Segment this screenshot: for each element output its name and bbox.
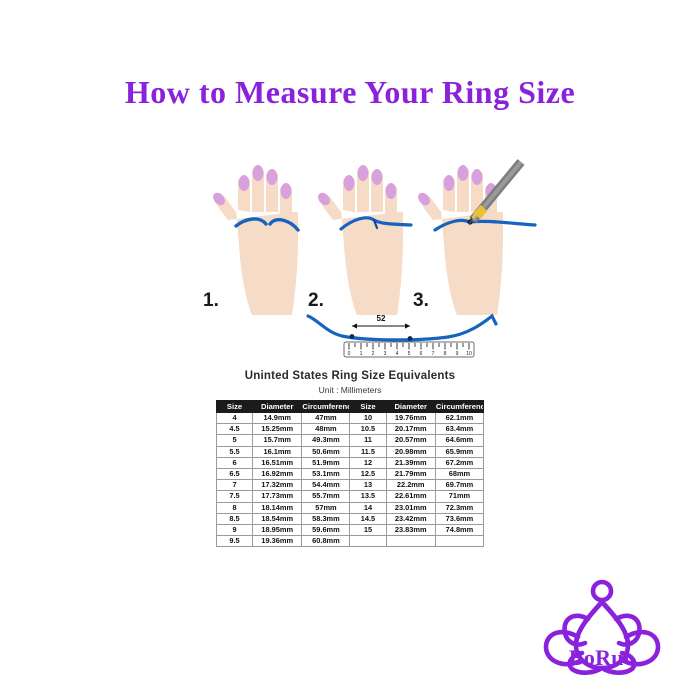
ruler-measurement-diagram: 52 [300, 310, 520, 365]
table-header-cell-2: Circumference [302, 401, 350, 413]
table-cell-1: 17.73mm [253, 491, 302, 502]
table-cell-3: 11 [350, 435, 386, 446]
svg-text:8: 8 [444, 351, 447, 357]
table-cell-4: 20.17mm [386, 424, 435, 435]
svg-text:9: 9 [456, 351, 459, 357]
table-cell-4: 23.42mm [386, 513, 435, 524]
table-cell-5: 72.3mm [435, 502, 483, 513]
table-cell-4: 20.57mm [386, 435, 435, 446]
ruler-svg: 52 [300, 310, 520, 365]
table-cell-2: 51.9mm [302, 457, 350, 468]
table-cell-2: 60.8mm [302, 536, 350, 547]
table-cell-5: 67.2mm [435, 457, 483, 468]
table-cell-4: 22.2mm [386, 480, 435, 491]
measure-value-label: 52 [377, 314, 386, 323]
table-cell-5 [435, 536, 483, 547]
svg-text:5: 5 [408, 351, 411, 357]
step-number-1: 1. [203, 290, 219, 312]
table-cell-2: 48mm [302, 424, 350, 435]
table-cell-0: 5 [217, 435, 253, 446]
nail-icon [372, 169, 383, 185]
nail-icon [458, 165, 469, 181]
table-cell-1: 17.32mm [253, 480, 302, 491]
brand-name: BoRuo [532, 645, 672, 671]
ring-size-table: SizeDiameterCircumferenceSizeDiameterCir… [216, 400, 484, 547]
table-cell-5: 69.7mm [435, 480, 483, 491]
nail-icon [281, 183, 292, 199]
nail-icon [344, 175, 355, 191]
nail-icon [386, 183, 397, 199]
page-title: How to Measure Your Ring Size [0, 74, 700, 111]
table-cell-5: 68mm [435, 469, 483, 480]
table-cell-0: 9 [217, 525, 253, 536]
table-title: Uninted States Ring Size Equivalents [0, 370, 700, 382]
table-cell-1: 19.36mm [253, 536, 302, 547]
table-header-row: SizeDiameterCircumferenceSizeDiameterCir… [217, 401, 484, 413]
table-cell-4: 23.83mm [386, 525, 435, 536]
nail-icon [358, 165, 369, 181]
table-cell-1: 18.14mm [253, 502, 302, 513]
table-cell-3: 11.5 [350, 446, 386, 457]
table-row: 818.14mm57mm1423.01mm72.3mm [217, 502, 484, 513]
table-cell-0: 5.5 [217, 446, 253, 457]
table-cell-3: 15 [350, 525, 386, 536]
table-row: 6.516.92mm53.1mm12.521.79mm68mm [217, 469, 484, 480]
table-cell-2: 59.6mm [302, 525, 350, 536]
svg-text:7: 7 [432, 351, 435, 357]
table-cell-2: 49.3mm [302, 435, 350, 446]
svg-text:1: 1 [360, 351, 363, 357]
table-cell-0: 7 [217, 480, 253, 491]
table-cell-1: 18.54mm [253, 513, 302, 524]
table-cell-5: 74.8mm [435, 525, 483, 536]
table-cell-0: 6.5 [217, 469, 253, 480]
table-cell-4: 22.61mm [386, 491, 435, 502]
table-cell-2: 47mm [302, 413, 350, 424]
svg-text:2: 2 [372, 351, 375, 357]
svg-text:10: 10 [466, 351, 472, 357]
table-cell-0: 9.5 [217, 536, 253, 547]
table-cell-1: 15.7mm [253, 435, 302, 446]
table-cell-1: 16.51mm [253, 457, 302, 468]
table-cell-2: 53.1mm [302, 469, 350, 480]
table-cell-5: 73.6mm [435, 513, 483, 524]
hand-shape-1 [211, 165, 298, 315]
svg-text:3: 3 [384, 351, 387, 357]
table-cell-4: 21.79mm [386, 469, 435, 480]
table-row: 717.32mm54.4mm1322.2mm69.7mm [217, 480, 484, 491]
table-cell-3: 13.5 [350, 491, 386, 502]
table-cell-3: 14 [350, 502, 386, 513]
table-cell-0: 8 [217, 502, 253, 513]
nail-icon [239, 175, 250, 191]
table-row: 8.518.54mm58.3mm14.523.42mm73.6mm [217, 513, 484, 524]
table-cell-1: 14.9mm [253, 413, 302, 424]
table-cell-0: 4.5 [217, 424, 253, 435]
table-cell-3: 10 [350, 413, 386, 424]
table-cell-3: 13 [350, 480, 386, 491]
svg-text:4: 4 [396, 351, 399, 357]
table-header-cell-0: Size [217, 401, 253, 413]
hand-shape-2 [316, 165, 403, 315]
table-cell-2: 54.4mm [302, 480, 350, 491]
table-cell-3: 14.5 [350, 513, 386, 524]
table-cell-4: 23.01mm [386, 502, 435, 513]
table-cell-4: 19.76mm [386, 413, 435, 424]
table-header-cell-3: Size [350, 401, 386, 413]
table-cell-1: 18.95mm [253, 525, 302, 536]
table-cell-1: 15.25mm [253, 424, 302, 435]
table-cell-4 [386, 536, 435, 547]
table-cell-2: 57mm [302, 502, 350, 513]
table-row: 9.519.36mm60.8mm [217, 536, 484, 547]
table-cell-3: 12 [350, 457, 386, 468]
laid-string [308, 316, 496, 340]
table-cell-3: 12.5 [350, 469, 386, 480]
ring-size-guide-page: How to Measure Your Ring Size [0, 0, 700, 700]
svg-text:6: 6 [420, 351, 423, 357]
table-cell-5: 62.1mm [435, 413, 483, 424]
ring-size-table-block: Uninted States Ring Size Equivalents Uni… [0, 370, 700, 547]
table-cell-1: 16.92mm [253, 469, 302, 480]
table-row: 918.95mm59.6mm1523.83mm74.8mm [217, 525, 484, 536]
table-unit-label: Unit : Millimeters [0, 385, 700, 395]
hand-svg-3 [411, 150, 551, 315]
table-cell-5: 71mm [435, 491, 483, 502]
table-cell-3: 10.5 [350, 424, 386, 435]
table-header-cell-1: Diameter [253, 401, 302, 413]
measurement-illustration: 1. [0, 150, 700, 365]
table-row: 414.9mm47mm1019.76mm62.1mm [217, 413, 484, 424]
table-cell-4: 20.98mm [386, 446, 435, 457]
table-cell-0: 4 [217, 413, 253, 424]
table-row: 616.51mm51.9mm1221.39mm67.2mm [217, 457, 484, 468]
table-cell-5: 65.9mm [435, 446, 483, 457]
table-header-cell-4: Diameter [386, 401, 435, 413]
table-cell-4: 21.39mm [386, 457, 435, 468]
table-cell-5: 64.6mm [435, 435, 483, 446]
table-row: 515.7mm49.3mm1120.57mm64.6mm [217, 435, 484, 446]
nail-icon [267, 169, 278, 185]
step-number-2: 2. [308, 290, 324, 312]
table-cell-0: 6 [217, 457, 253, 468]
table-row: 7.517.73mm55.7mm13.522.61mm71mm [217, 491, 484, 502]
table-cell-2: 50.6mm [302, 446, 350, 457]
table-cell-0: 7.5 [217, 491, 253, 502]
nail-icon [472, 169, 483, 185]
hand-illustration-step-3 [411, 150, 551, 315]
svg-text:0: 0 [348, 351, 351, 357]
nail-icon [444, 175, 455, 191]
nail-icon [253, 165, 264, 181]
table-cell-2: 55.7mm [302, 491, 350, 502]
table-row: 4.515.25mm48mm10.520.17mm63.4mm [217, 424, 484, 435]
table-cell-0: 8.5 [217, 513, 253, 524]
table-header-cell-5: Circumference [435, 401, 483, 413]
table-cell-1: 16.1mm [253, 446, 302, 457]
table-cell-2: 58.3mm [302, 513, 350, 524]
table-row: 5.516.1mm50.6mm11.520.98mm65.9mm [217, 446, 484, 457]
table-cell-5: 63.4mm [435, 424, 483, 435]
step-number-3: 3. [413, 290, 429, 312]
table-cell-3 [350, 536, 386, 547]
